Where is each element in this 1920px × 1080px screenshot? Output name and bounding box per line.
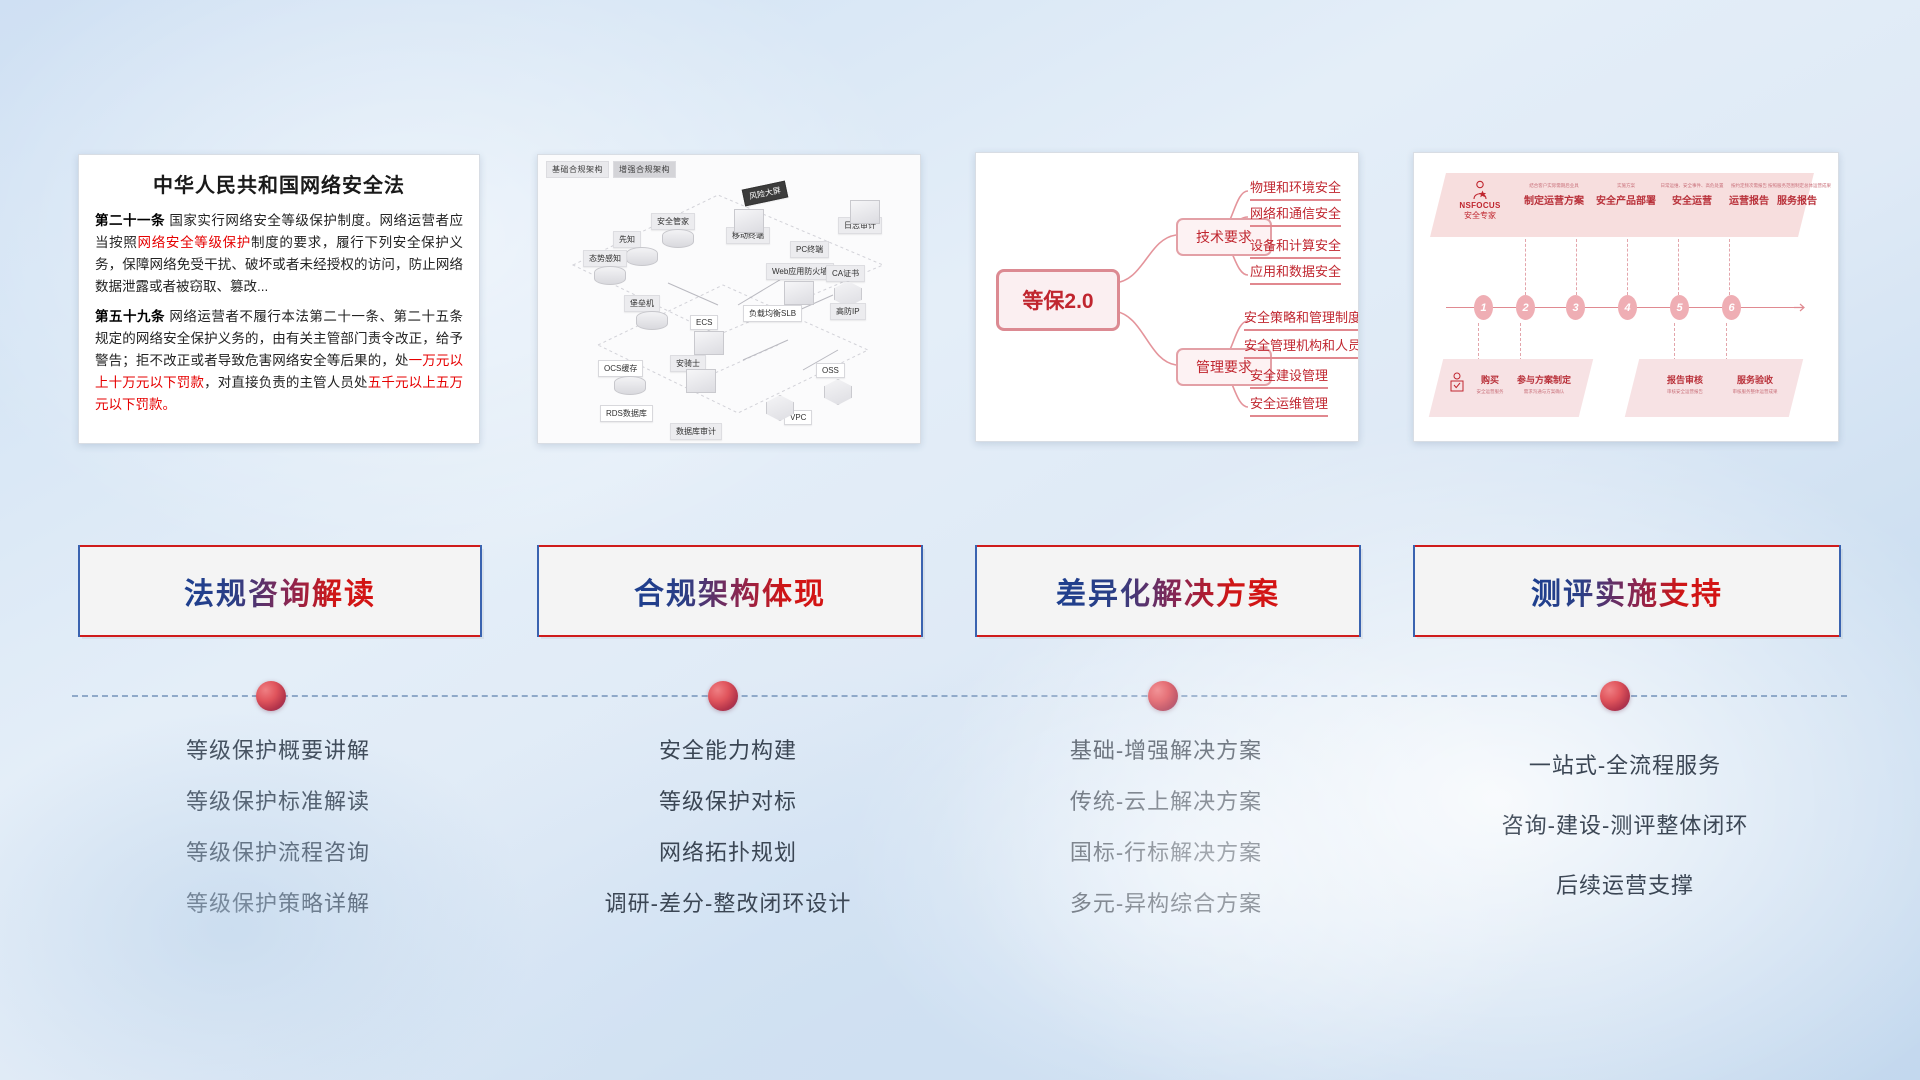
- arrow-right-icon: [1794, 301, 1814, 315]
- nsfocus-step-3-title: 安全运营: [1660, 192, 1724, 207]
- nsfocus-step-1[interactable]: 结合客户实际需期后业具 制定运营方案: [1518, 183, 1590, 207]
- list-item[interactable]: 调研-差分-整改闭环设计: [537, 893, 919, 915]
- mindmap-leaf-construction-mgmt[interactable]: 安全建设管理: [1250, 365, 1328, 389]
- list-item[interactable]: 等级保护概要讲解: [78, 740, 478, 762]
- nsfocus-step-2-caption: 实施方案: [1590, 183, 1662, 188]
- nsfocus-number-4[interactable]: 4: [1618, 295, 1637, 320]
- node-rds-database[interactable]: RDS数据库: [600, 405, 653, 422]
- nsfocus-tick-2: [1576, 239, 1578, 295]
- card-mindmap[interactable]: 等保2.0 技术要求 物理和环境安全 网络和通信安全 设备和计算安全 应用和数据…: [975, 152, 1359, 442]
- nsfocus-left-cell-2-caption: 需求沟通与方案确认: [1510, 389, 1578, 395]
- nsfocus-tick-lower-6: [1726, 323, 1728, 361]
- drum-ocs-cache: [614, 376, 646, 395]
- card-architecture-diagram[interactable]: 基础合规架构 增强合规架构: [537, 154, 921, 444]
- node-database-audit[interactable]: 数据库审计: [670, 423, 722, 440]
- column-1: 等级保护概要讲解 等级保护标准解读 等级保护流程咨询 等级保护策略详解: [78, 740, 478, 944]
- law-article-59: 第五十九条 网络运营者不履行本法第二十一条、第二十五条规定的网络安全保护义务的，…: [95, 306, 463, 415]
- nsfocus-step-5-title: 服务报告: [1768, 192, 1826, 207]
- card-nsfocus-timeline[interactable]: NSFOCUS 安全专家 结合客户实际需期后业具 制定运营方案 实施方案 安全产…: [1413, 152, 1839, 442]
- node-security-butler[interactable]: 安全管家: [651, 213, 695, 230]
- article-21-label: 第二十一条: [95, 213, 165, 228]
- box-waf: [784, 281, 814, 305]
- list-item[interactable]: 等级保护流程咨询: [78, 842, 478, 864]
- node-web-application-firewall[interactable]: Web应用防火墙: [766, 263, 834, 280]
- list-item[interactable]: 基础-增强解决方案: [975, 740, 1357, 762]
- timeline-dot-2[interactable]: [708, 681, 738, 711]
- nsfocus-step-5[interactable]: 按照服务范围制定总体运营成果 服务报告: [1768, 183, 1826, 207]
- nsfocus-tick-lower-2: [1520, 323, 1522, 361]
- mindmap-leaf-policy-system[interactable]: 安全策略和管理制度: [1244, 307, 1359, 331]
- mindmap-leaf-physical-env[interactable]: 物理和环境安全: [1250, 177, 1341, 201]
- box-log-audit: [850, 200, 880, 224]
- nsfocus-step-3[interactable]: 日常运维、安全事件、高危处置 安全运营: [1660, 183, 1724, 207]
- box-anqishi: [686, 369, 716, 393]
- nsfocus-tick-1: [1525, 239, 1527, 295]
- list-item[interactable]: 一站式-全流程服务: [1413, 755, 1837, 777]
- headline-box-2[interactable]: 合规架构体现: [537, 545, 923, 637]
- nsfocus-step-3-caption: 日常运维、安全事件、高危处置: [1660, 183, 1724, 188]
- article-59-text-b: ，对直接负责的主管人员处: [204, 375, 368, 390]
- node-pc-terminal[interactable]: PC终端: [790, 241, 829, 258]
- mindmap-leaf-app-data[interactable]: 应用和数据安全: [1250, 261, 1341, 285]
- node-ocs-cache[interactable]: OCS缓存: [598, 360, 643, 377]
- nsfocus-number-5[interactable]: 5: [1670, 295, 1689, 320]
- nsfocus-tick-3: [1627, 239, 1629, 295]
- mindmap-leaf-device-compute[interactable]: 设备和计算安全: [1250, 235, 1341, 259]
- mindmap-leaf-operations-mgmt[interactable]: 安全运维管理: [1250, 393, 1328, 417]
- card-law-text[interactable]: 中华人民共和国网络安全法 第二十一条 国家实行网络安全等级保护制度。网络运营者应…: [78, 154, 480, 444]
- mindmap-root-node[interactable]: 等保2.0: [996, 269, 1120, 331]
- nsfocus-right-cell-2[interactable]: 服务验收 审核服务整体运营成果: [1720, 373, 1790, 395]
- expert-person-icon: [1469, 179, 1491, 201]
- timeline-dashed-line: [72, 695, 1847, 697]
- law-body: 中华人民共和国网络安全法 第二十一条 国家实行网络安全等级保护制度。网络运营者应…: [79, 155, 479, 416]
- node-situational-awareness[interactable]: 态势感知: [583, 250, 627, 267]
- drum-xianzhi: [626, 247, 658, 266]
- mindmap-leaf-network-comm[interactable]: 网络和通信安全: [1250, 203, 1341, 227]
- nsfocus-right-cell-1-caption: 审核安全运营报告: [1654, 389, 1716, 395]
- node-bastion-host[interactable]: 堡垒机: [624, 295, 660, 312]
- node-ecs[interactable]: ECS: [690, 315, 718, 330]
- box-ecs: [694, 331, 724, 355]
- architecture-connectors: [538, 155, 920, 443]
- timeline-dot-3[interactable]: [1148, 681, 1178, 711]
- list-item[interactable]: 传统-云上解决方案: [975, 791, 1357, 813]
- column-4: 一站式-全流程服务 咨询-建设-测评整体闭环 后续运营支撑: [1413, 755, 1837, 935]
- node-xianzhi[interactable]: 先知: [613, 231, 641, 248]
- law-title: 中华人民共和国网络安全法: [95, 169, 463, 198]
- nsfocus-banner: NSFOCUS 安全专家 结合客户实际需期后业具 制定运营方案 实施方案 安全产…: [1430, 173, 1814, 237]
- nsfocus-number-1[interactable]: 1: [1474, 295, 1493, 320]
- article-59-label: 第五十九条: [95, 309, 165, 324]
- nsfocus-right-cell-2-caption: 审核服务整体运营成果: [1720, 389, 1790, 395]
- list-item[interactable]: 国标-行标解决方案: [975, 842, 1357, 864]
- nsfocus-customer-tray: 购买 安全运营服务 参与方案制定 需求沟通与方案确认: [1429, 359, 1593, 417]
- nsfocus-left-cell-1[interactable]: 购买 安全运营服务: [1470, 373, 1510, 395]
- list-item[interactable]: 等级保护对标: [537, 791, 919, 813]
- nsfocus-step-1-caption: 结合客户实际需期后业具: [1518, 183, 1590, 188]
- list-item[interactable]: 安全能力构建: [537, 740, 919, 762]
- card-row: 中华人民共和国网络安全法 第二十一条 国家实行网络安全等级保护制度。网络运营者应…: [0, 0, 1920, 460]
- architecture-canvas: 基础合规架构 增强合规架构: [538, 155, 920, 443]
- mindmap-canvas: 等保2.0 技术要求 物理和环境安全 网络和通信安全 设备和计算安全 应用和数据…: [976, 153, 1358, 441]
- nsfocus-tick-4: [1678, 239, 1680, 295]
- nsfocus-logo-sub: 安全专家: [1452, 210, 1508, 221]
- list-item[interactable]: 多元-异构综合方案: [975, 893, 1357, 915]
- article-21-highlight: 网络安全等级保护: [138, 235, 251, 250]
- mindmap-leaf-org-personnel[interactable]: 安全管理机构和人员: [1244, 335, 1359, 359]
- slide-canvas: 中华人民共和国网络安全法 第二十一条 国家实行网络安全等级保护制度。网络运营者应…: [0, 0, 1920, 1080]
- nsfocus-logo-name: NSFOCUS: [1452, 201, 1508, 210]
- list-item[interactable]: 等级保护策略详解: [78, 893, 478, 915]
- nsfocus-tick-5: [1729, 239, 1731, 295]
- headline-label-3: 差异化解决方案: [1056, 569, 1280, 613]
- list-item[interactable]: 等级保护标准解读: [78, 791, 478, 813]
- column-2: 安全能力构建 等级保护对标 网络拓扑规划 调研-差分-整改闭环设计: [537, 740, 919, 944]
- list-item[interactable]: 网络拓扑规划: [537, 842, 919, 864]
- headline-label-1: 法规咨询解读: [184, 569, 376, 613]
- nsfocus-tick-lower-1: [1478, 323, 1480, 361]
- node-oss[interactable]: OSS: [816, 363, 845, 378]
- nsfocus-left-cell-1-title: 购买: [1470, 373, 1510, 386]
- drum-security-butler: [662, 229, 694, 248]
- nsfocus-left-cell-2[interactable]: 参与方案制定 需求沟通与方案确认: [1510, 373, 1578, 395]
- list-item[interactable]: 咨询-建设-测评整体闭环: [1413, 815, 1837, 837]
- box-mobile-terminal: [734, 209, 764, 233]
- nsfocus-right-cell-2-title: 服务验收: [1720, 373, 1790, 386]
- nsfocus-step-1-title: 制定运营方案: [1518, 192, 1590, 207]
- headline-label-4: 测评实施支持: [1531, 569, 1723, 613]
- timeline-dot-1[interactable]: [256, 681, 286, 711]
- law-article-21: 第二十一条 国家实行网络安全等级保护制度。网络运营者应当按照网络安全等级保护制度…: [95, 210, 463, 297]
- nsfocus-left-cell-2-title: 参与方案制定: [1510, 373, 1578, 386]
- node-load-balancer-slb[interactable]: 负载均衡SLB: [743, 305, 802, 322]
- nsfocus-review-tray: 报告审核 审核安全运营报告 服务验收 审核服务整体运营成果: [1625, 359, 1803, 417]
- nsfocus-tick-lower-5: [1674, 323, 1676, 361]
- nsfocus-right-cell-1[interactable]: 报告审核 审核安全运营报告: [1654, 373, 1716, 395]
- nsfocus-number-2[interactable]: 2: [1516, 295, 1535, 320]
- node-ca-certificate[interactable]: CA证书: [826, 265, 865, 282]
- nsfocus-number-6[interactable]: 6: [1722, 295, 1741, 320]
- headline-box-1[interactable]: 法规咨询解读: [78, 545, 482, 637]
- nsfocus-step-2-title: 安全产品部署: [1590, 192, 1662, 207]
- list-item[interactable]: 后续运营支撑: [1413, 875, 1837, 897]
- nsfocus-step-2[interactable]: 实施方案 安全产品部署: [1590, 183, 1662, 207]
- nsfocus-left-cell-1-caption: 安全运营服务: [1470, 389, 1510, 395]
- nsfocus-logo: NSFOCUS 安全专家: [1452, 179, 1508, 221]
- nsfocus-right-cell-1-title: 报告审核: [1654, 373, 1716, 386]
- drum-situational-awareness: [594, 266, 626, 285]
- node-anti-ddos-ip[interactable]: 高防IP: [830, 303, 866, 320]
- nsfocus-number-3[interactable]: 3: [1566, 295, 1585, 320]
- headline-box-3[interactable]: 差异化解决方案: [975, 545, 1361, 637]
- timeline-dot-4[interactable]: [1600, 681, 1630, 711]
- column-3: 基础-增强解决方案 传统-云上解决方案 国标-行标解决方案 多元-异构综合方案: [975, 740, 1357, 944]
- nsfocus-canvas: NSFOCUS 安全专家 结合客户实际需期后业具 制定运营方案 实施方案 安全产…: [1414, 153, 1838, 441]
- nsfocus-step-5-caption: 按照服务范围制定总体运营成果: [1768, 183, 1826, 188]
- headline-box-4[interactable]: 测评实施支持: [1413, 545, 1841, 637]
- drum-bastion-host: [636, 311, 668, 330]
- customer-person-icon: [1448, 371, 1466, 393]
- headline-label-2: 合规架构体现: [634, 569, 826, 613]
